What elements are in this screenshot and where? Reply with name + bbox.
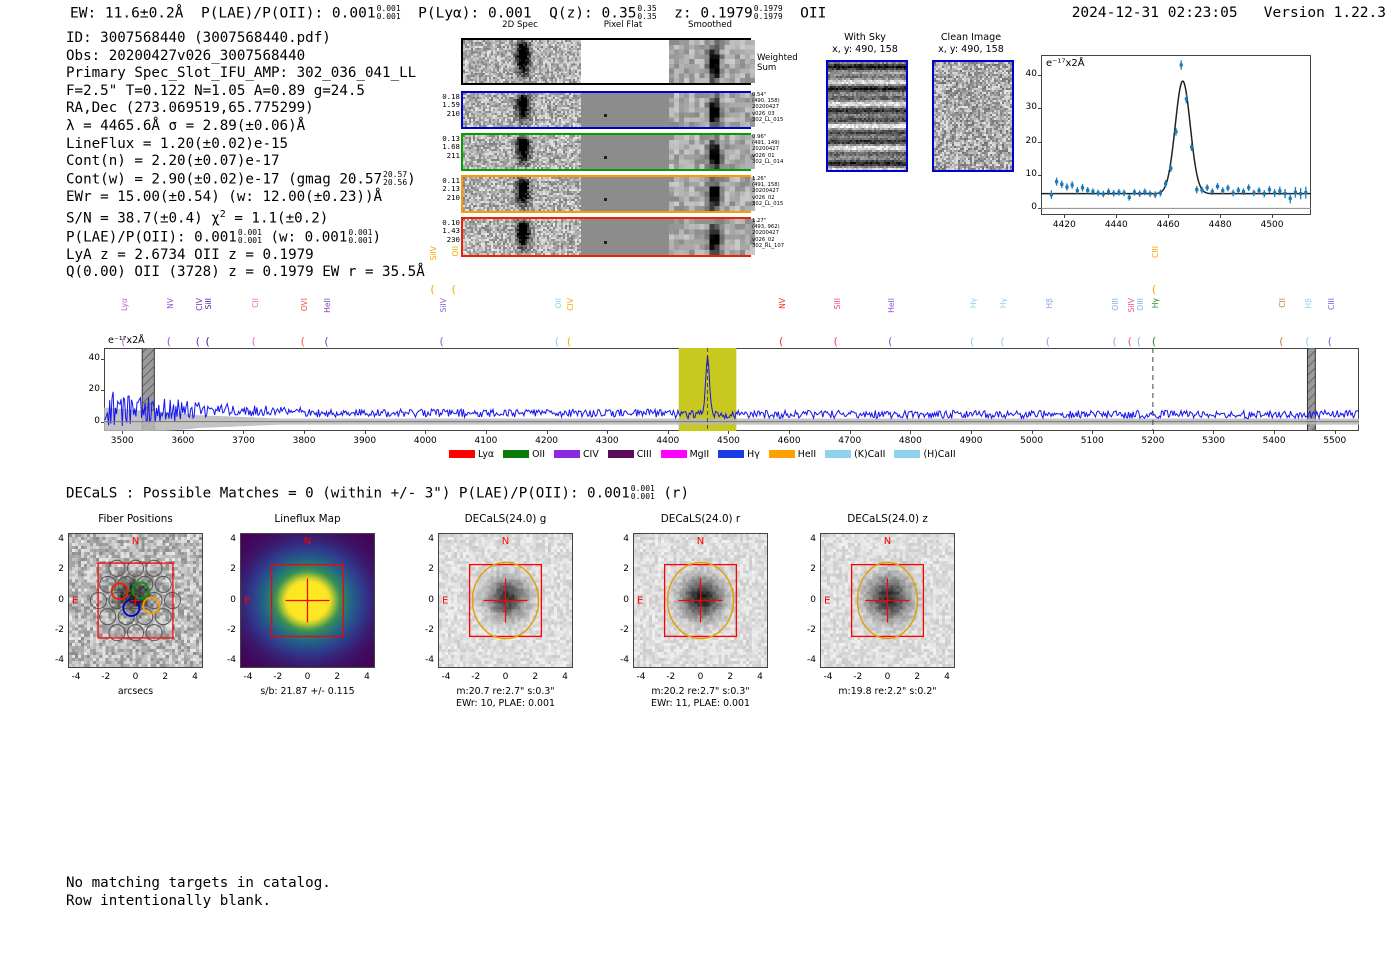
emission-line-label: HeII (887, 298, 896, 313)
legend-color-swatch (608, 450, 634, 458)
emission-line-label: OVI (300, 298, 309, 311)
decals-header-band: (r) (663, 485, 689, 501)
emission-line-bracket: ( (1128, 335, 1132, 348)
cutout-overlay (68, 533, 203, 668)
emission-line-label: CII (251, 298, 260, 308)
full-spectrum-xtick: 5400 (1251, 436, 1297, 446)
cutout-ytick: 4 (220, 534, 236, 544)
cutout-ytick: -4 (220, 655, 236, 665)
full-spectrum-xtick: 5500 (1312, 436, 1358, 446)
fiber-circle (109, 592, 125, 608)
fiber-circle (100, 609, 116, 625)
full-spectrum-xtick: 3500 (99, 436, 145, 446)
emission-line-bracket: ( (1112, 335, 1116, 348)
footer-note: No matching targets in catalog. Row inte… (66, 875, 331, 910)
cutout-ytick: 0 (418, 595, 434, 605)
emission-line-bracket: ( (167, 335, 171, 348)
emission-line-bracket: ( (834, 335, 838, 348)
legend-item: HeII (769, 449, 816, 460)
cutout-title: DECaLS(24.0) r (633, 513, 768, 525)
emission-line-bracket: ( (567, 335, 571, 348)
cutout-caption-line1: m:20.2 re:2.7" s:0.3" (633, 686, 768, 698)
full-spectrum-xtick: 3800 (281, 436, 327, 446)
emission-line-bracket: ( (196, 335, 200, 348)
full-spectrum-xtick-mark (304, 431, 305, 434)
full-spectrum-xtick: 4900 (948, 436, 994, 446)
full-spectrum-xtick-mark (1092, 431, 1093, 434)
cutout-ytick: -4 (613, 655, 629, 665)
cutout-xtick: 4 (186, 672, 204, 682)
full-spectrum-xtick: 4300 (584, 436, 630, 446)
compass-east-label: E (824, 595, 830, 606)
info-q-line: Q(0.00) OII (3728) z = 0.1979 EW r = 35.… (66, 264, 425, 282)
cutout-caption-line1: m:20.7 re:2.7" s:0.3" (438, 686, 573, 698)
cutout-ytick: -2 (800, 625, 816, 635)
emission-line-label: NV (778, 298, 787, 309)
legend-label: Hγ (747, 449, 760, 460)
cutout-ytick: -2 (418, 625, 434, 635)
full-spectrum-xtick: 5000 (1009, 436, 1055, 446)
full-spectrum-xtick: 3900 (342, 436, 388, 446)
legend-color-swatch (554, 450, 580, 458)
cutout-xtick: 4 (556, 672, 574, 682)
cutout-ytick: 0 (613, 595, 629, 605)
legend-item: (H)CaII (894, 449, 955, 460)
cutout-overlay (633, 533, 768, 668)
legend-item: OII (503, 449, 545, 460)
full-spectrum-xtick-mark (365, 431, 366, 434)
cutout-ytick: -4 (418, 655, 434, 665)
cutout-caption-line2: EWr: 10, PLAE: 0.001 (438, 698, 573, 710)
cutout-title: Lineflux Map (240, 513, 375, 525)
cutout-xtick: -4 (67, 672, 85, 682)
legend-item: Hγ (718, 449, 760, 460)
full-spectrum-xtick: 3600 (160, 436, 206, 446)
full-spectrum-xtick-mark (547, 431, 548, 434)
emission-line-label: Hγ (969, 298, 978, 308)
legend-label: MgII (690, 449, 710, 460)
cutout-xtick: 2 (908, 672, 926, 682)
cutout-panel: DECaLS(24.0) gNE-4-4-2-2002244m:20.7 re:… (438, 533, 573, 668)
emission-line-label: Lyα (120, 298, 129, 311)
full-spectrum-xtick: 4700 (827, 436, 873, 446)
cutout-xtick: -2 (662, 672, 680, 682)
emission-line-bracket: ( (301, 335, 305, 348)
full-spectrum-xtick: 4200 (524, 436, 570, 446)
cutout-caption-line2: EWr: 11, PLAE: 0.001 (633, 698, 768, 710)
emission-line-label: SiII (204, 298, 213, 309)
full-spectrum-ytick: 40 (82, 353, 100, 363)
legend-label: HeII (798, 449, 816, 460)
cutout-caption: arcsecs (68, 686, 203, 698)
cutout-ytick: -2 (220, 625, 236, 635)
full-spectrum-xtick-mark (789, 431, 790, 434)
cutout-xtick: 4 (938, 672, 956, 682)
cutout-xtick: 0 (692, 672, 710, 682)
emission-line-label: SiIV (1127, 298, 1136, 312)
emission-line-label: Hβ (1045, 298, 1054, 309)
legend-color-swatch (661, 450, 687, 458)
cutout-xtick: 0 (879, 672, 897, 682)
cutout-xtick: 2 (328, 672, 346, 682)
cutout-title: DECaLS(24.0) z (820, 513, 955, 525)
emission-line-label: Hγ (999, 298, 1008, 308)
compass-east-label: E (72, 595, 78, 606)
emission-line-label: Hβ (1304, 298, 1313, 309)
emission-line-bracket: ( (1152, 283, 1156, 296)
emission-line-bracket: ( (324, 335, 328, 348)
decals-header: DECaLS : Possible Matches = 0 (within +/… (66, 485, 689, 502)
legend-label: (H)CaII (923, 449, 955, 460)
full-spectrum-xtick-mark (1274, 431, 1275, 434)
emission-line-bracket: ( (888, 335, 892, 348)
full-spectrum-ytick: 20 (82, 384, 100, 394)
cutout-panel: Fiber PositionsNE-4-4-2-2002244arcsecs (68, 533, 203, 668)
cutout-title: Fiber Positions (68, 513, 203, 525)
footer-line-1: No matching targets in catalog. (66, 875, 331, 893)
legend-color-swatch (449, 450, 475, 458)
full-spectrum-xtick: 3700 (220, 436, 266, 446)
cutout-title: DECaLS(24.0) g (438, 513, 573, 525)
emission-line-label: SiII (833, 298, 842, 309)
legend-item: CIII (608, 449, 652, 460)
masked-wavelength-band (1307, 348, 1315, 431)
cutout-panel: DECaLS(24.0) zNE-4-4-2-2002244m:19.8 re:… (820, 533, 955, 668)
emission-line-bracket: ( (779, 335, 783, 348)
emission-line-label: OIII (1136, 298, 1145, 311)
cutout-xtick: -2 (849, 672, 867, 682)
cutout-xtick: -2 (269, 672, 287, 682)
full-spectrum-plot: e⁻¹⁷x2Å020403500360037003800390040004100… (104, 348, 1359, 501)
full-spectrum-xtick-mark (1153, 431, 1154, 434)
full-spectrum-xtick: 5300 (1190, 436, 1236, 446)
cutout-overlay (820, 533, 955, 668)
full-spectrum-xtick-mark (607, 431, 608, 434)
cutout-xtick: 2 (526, 672, 544, 682)
emission-line-bracket: ( (1000, 335, 1004, 348)
emission-line-bracket: ( (1305, 335, 1309, 348)
emission-line-label: CIV (566, 298, 575, 311)
full-spectrum-ytick-mark (101, 390, 104, 391)
cutout-xtick: -2 (467, 672, 485, 682)
emission-line-legend: LyαOIICIVCIIIMgIIHγHeII(K)CaII(H)CaII (449, 446, 1009, 462)
full-spectrum-xtick-mark (910, 431, 911, 434)
compass-north-label: N (132, 536, 139, 547)
compass-east-label: E (637, 595, 643, 606)
cutout-caption: s/b: 21.87 +/- 0.115 (240, 686, 375, 698)
legend-label: CIII (637, 449, 652, 460)
cutout-ytick: 4 (613, 534, 629, 544)
cutout-xtick: -4 (632, 672, 650, 682)
compass-north-label: N (697, 536, 704, 547)
cutout-ytick: 2 (613, 564, 629, 574)
cutout-xtick: 4 (751, 672, 769, 682)
emission-line-bracket: ( (121, 335, 125, 348)
compass-north-label: N (502, 536, 509, 547)
emission-line-bracket: ( (440, 335, 444, 348)
full-spectrum-xtick-mark (486, 431, 487, 434)
full-spectrum-xtick: 4100 (463, 436, 509, 446)
cutout-xtick: 2 (156, 672, 174, 682)
full-spectrum-ytick-mark (101, 422, 104, 423)
emission-line-bracket: ( (970, 335, 974, 348)
cutout-ytick: 0 (220, 595, 236, 605)
full-spectrum-xtick-mark (971, 431, 972, 434)
cutout-caption-line1: s/b: 21.87 +/- 0.115 (240, 686, 375, 698)
compass-east-label: E (442, 595, 448, 606)
full-spectrum-ytick-mark (101, 359, 104, 360)
full-spectrum-xtick-mark (122, 431, 123, 434)
compass-north-label: N (884, 536, 891, 547)
emission-line-label: CII (1278, 298, 1287, 308)
cutout-ytick: -2 (48, 625, 64, 635)
full-spectrum-xtick: 5200 (1130, 436, 1176, 446)
compass-east-label: E (244, 595, 250, 606)
compass-north-label: N (304, 536, 311, 547)
cutout-ytick: -4 (48, 655, 64, 665)
emission-line-bracket: ( (205, 335, 209, 348)
full-spectrum-units-annotation: e⁻¹⁷x2Å (108, 335, 145, 346)
legend-color-swatch (769, 450, 795, 458)
cutout-ytick: 4 (800, 534, 816, 544)
legend-label: CIV (583, 449, 599, 460)
emission-line-label: SiIV (439, 298, 448, 312)
cutout-caption-line1: arcsecs (68, 686, 203, 698)
cutout-ytick: 4 (48, 534, 64, 544)
legend-color-swatch (825, 450, 851, 458)
full-spectrum-xtick-mark (728, 431, 729, 434)
cutout-caption: m:19.8 re:2.2" s:0.2" (820, 686, 955, 698)
full-spectrum-xtick: 4600 (766, 436, 812, 446)
cutout-caption-line1: m:19.8 re:2.2" s:0.2" (820, 686, 955, 698)
cutout-xtick: -4 (819, 672, 837, 682)
decals-plae-range: 0.0010.001 (631, 485, 655, 502)
legend-color-swatch (894, 450, 920, 458)
cutout-xtick: -2 (97, 672, 115, 682)
fiber-circle (100, 576, 116, 592)
cutout-ytick: 2 (48, 564, 64, 574)
legend-label: (K)CaII (854, 449, 885, 460)
cutout-ytick: 2 (418, 564, 434, 574)
legend-item: Lyα (449, 449, 494, 460)
cutout-overlay (438, 533, 573, 668)
cutout-panel: Lineflux MapNE-4-4-2-2002244s/b: 21.87 +… (240, 533, 375, 668)
full-spectrum-xtick-mark (1032, 431, 1033, 434)
emission-line-bracket: ( (252, 335, 256, 348)
cutout-ytick: -2 (613, 625, 629, 635)
cutout-ytick: 2 (220, 564, 236, 574)
emission-line-bracket: ( (452, 283, 456, 296)
full-spectrum-xtick-mark (850, 431, 851, 434)
highlighted-fiber-circle (112, 583, 128, 599)
legend-color-swatch (718, 450, 744, 458)
emission-line-bracket: ( (1279, 335, 1283, 348)
full-spectrum-xtick-mark (243, 431, 244, 434)
cutout-xtick: -4 (239, 672, 257, 682)
emission-line-label: CIII (1327, 298, 1336, 310)
cutout-panels-group: Fiber PositionsNE-4-4-2-2002244arcsecsLi… (0, 0, 1400, 260)
emission-line-bracket: ( (555, 335, 559, 348)
full-spectrum-xtick: 5100 (1069, 436, 1115, 446)
full-spectrum-canvas (104, 348, 1359, 431)
cutout-xtick: 0 (497, 672, 515, 682)
cutout-caption: m:20.2 re:2.7" s:0.3"EWr: 11, PLAE: 0.00… (633, 686, 768, 710)
highlighted-fiber-circle (132, 583, 148, 599)
emission-line-bracket: ( (430, 283, 434, 296)
emission-line-label: Hγ (1151, 298, 1160, 308)
full-spectrum-xtick: 4000 (402, 436, 448, 446)
fiber-circle (155, 576, 171, 592)
cutout-xtick: 0 (127, 672, 145, 682)
full-spectrum-xtick: 4800 (887, 436, 933, 446)
emission-line-label: OIII (1111, 298, 1120, 311)
highlighted-fiber-circle (143, 597, 159, 613)
cutout-caption: m:20.7 re:2.7" s:0.3"EWr: 10, PLAE: 0.00… (438, 686, 573, 710)
emission-line-bracket: ( (1046, 335, 1050, 348)
cutout-ytick: 0 (800, 595, 816, 605)
cutout-xtick: -4 (437, 672, 455, 682)
emission-line-bracket: ( (1328, 335, 1332, 348)
emission-line-label: OII (554, 298, 563, 308)
emission-line-label: NV (166, 298, 175, 309)
full-spectrum-xtick-mark (1213, 431, 1214, 434)
footer-line-2: Row intentionally blank. (66, 893, 331, 911)
full-spectrum-xtick: 4500 (705, 436, 751, 446)
emission-line-bracket: ( (1152, 335, 1156, 348)
legend-item: MgII (661, 449, 710, 460)
legend-label: Lyα (478, 449, 494, 460)
emission-line-bracket: ( (1137, 335, 1141, 348)
cutout-ytick: 0 (48, 595, 64, 605)
cutout-xtick: 4 (358, 672, 376, 682)
emission-line-label: HeII (323, 298, 332, 313)
full-spectrum-xtick: 4400 (645, 436, 691, 446)
cutout-overlay (240, 533, 375, 668)
full-spectrum-xtick-mark (425, 431, 426, 434)
cutout-ytick: 2 (800, 564, 816, 574)
full-spectrum-xtick-mark (1335, 431, 1336, 434)
cutout-xtick: 2 (721, 672, 739, 682)
full-spectrum-xtick-mark (183, 431, 184, 434)
cutout-xtick: 0 (299, 672, 317, 682)
legend-label: OII (532, 449, 545, 460)
decals-header-text: DECaLS : Possible Matches = 0 (within +/… (66, 485, 630, 501)
cutout-panel: DECaLS(24.0) rNE-4-4-2-2002244m:20.2 re:… (633, 533, 768, 668)
emission-line-label: CIV (195, 298, 204, 311)
full-spectrum-ytick: 0 (82, 416, 100, 426)
cutout-ytick: 4 (418, 534, 434, 544)
legend-color-swatch (503, 450, 529, 458)
cutout-ytick: -4 (800, 655, 816, 665)
legend-item: (K)CaII (825, 449, 885, 460)
full-spectrum-xtick-mark (668, 431, 669, 434)
legend-item: CIV (554, 449, 599, 460)
